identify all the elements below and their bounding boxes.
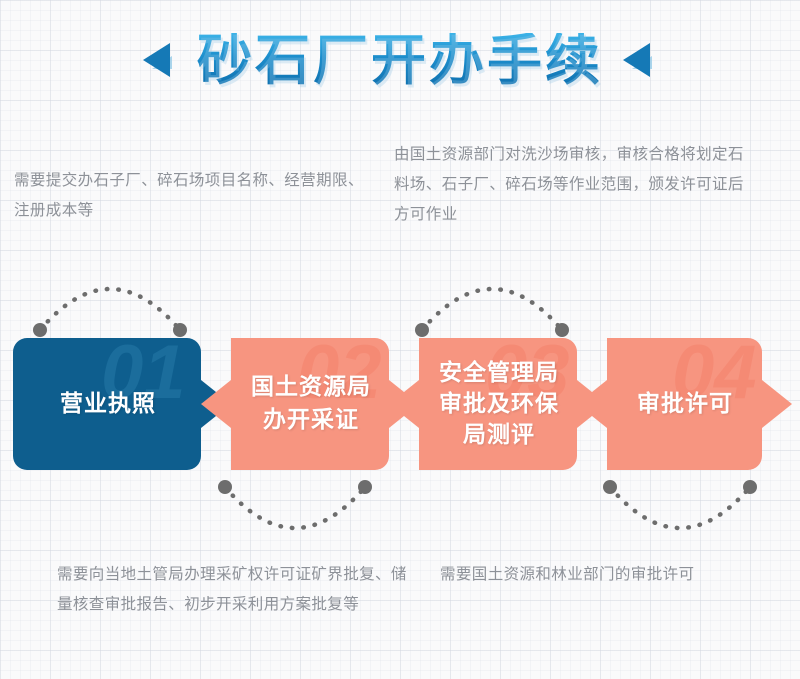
description-step-03: 由国土资源部门对洗沙场审核，审核合格将划定石料场、石子厂、碎石场等作业范围，颁发… [394,140,744,230]
infographic-canvas: 砂石厂开办手续 需要提交办石子厂、碎石场项目名称、经营期限、注册成本等 由国土资… [0,0,800,679]
step-03[interactable]: 03 安全管理局 审批及环保 局测评 [389,338,607,470]
dotted-arc-up-icon-1 [30,258,190,340]
step-04-label: 审批许可 [607,338,763,470]
step-03-label-line-2: 审批及环保 [439,389,559,420]
step-04-label-line-1: 审批许可 [637,388,733,421]
dotted-arc-down-icon-1 [215,477,375,559]
dotted-arc-down-icon-2 [600,477,760,559]
step-03-label: 安全管理局 审批及环保 局测评 [419,338,579,470]
triangle-left-main-icon [623,43,650,77]
step-03-label-line-1: 安全管理局 [439,358,559,389]
triangle-left-main-icon [143,43,170,77]
description-step-02: 需要向当地土管局办理采矿权许可证矿界批复、储量核查审批报告、初步开采利用方案批复… [57,560,407,620]
step-02[interactable]: 02 国土资源局 办开采证 [201,338,419,470]
step-01-label: 营业执照 [13,338,203,470]
triangle-left-icon-right [623,40,657,80]
step-02-label: 国土资源局 办开采证 [231,338,391,470]
description-step-04: 需要国土资源和林业部门的审批许可 [440,560,790,590]
page-title-row: 砂石厂开办手续 [0,22,800,98]
step-04[interactable]: 04 审批许可 [577,338,792,470]
step-02-label-line-2: 办开采证 [263,404,359,437]
step-03-label-line-3: 局测评 [463,420,535,451]
step-01-label-line-1: 营业执照 [60,388,156,421]
page-title: 砂石厂开办手续 [197,33,603,88]
step-02-label-line-1: 国土资源局 [251,371,371,404]
description-step-01: 需要提交办石子厂、碎石场项目名称、经营期限、注册成本等 [14,166,374,226]
step-01[interactable]: 01 营业执照 [13,338,231,470]
triangle-left-icon [143,40,177,80]
dotted-arc-up-icon-2 [412,258,572,340]
process-step-bar: 01 营业执照 02 国土资源局 办开 [0,338,800,470]
